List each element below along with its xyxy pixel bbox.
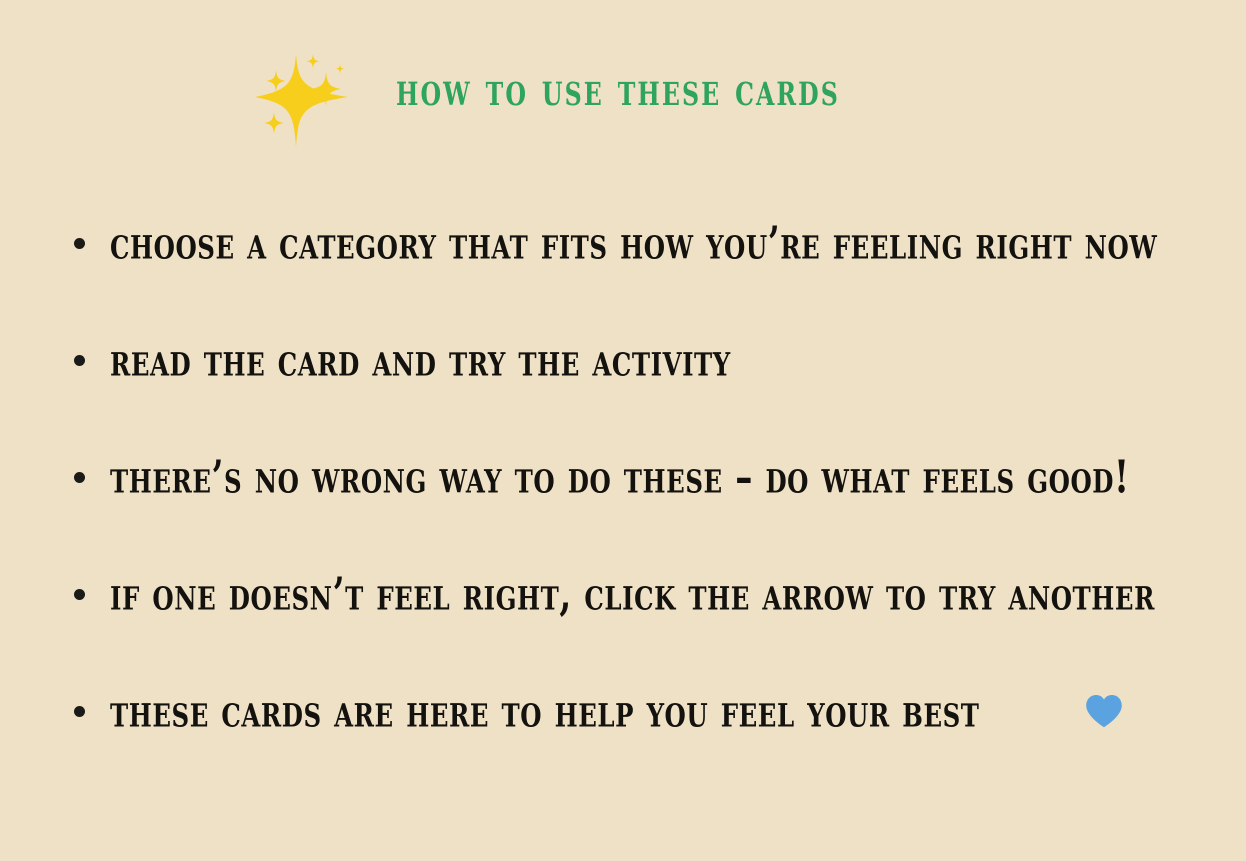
bullet-dot-icon — [74, 238, 85, 249]
list-item-label: Choose a category that fits how you’re f… — [110, 220, 1157, 265]
instructions-list: Choose a category that fits how you’re f… — [0, 184, 1246, 769]
bullet-dot-icon — [74, 472, 85, 483]
list-item-label: If one doesn’t feel right, click the arr… — [110, 571, 1155, 616]
list-item: Read the card and try the activity — [0, 301, 1246, 418]
list-item-label: Read the card and try the activity — [110, 337, 731, 382]
how-to-use-cards-page: How to Use These Cards Choose a category… — [0, 0, 1246, 861]
list-item-label: These cards are here to help you feel yo… — [110, 688, 980, 733]
blue-heart-icon — [1085, 694, 1123, 728]
list-item: There’s no wrong way to do these – do wh… — [0, 418, 1246, 535]
bullet-dot-icon — [74, 589, 85, 600]
list-item-label: There’s no wrong way to do these – do wh… — [110, 454, 1130, 499]
list-item: Choose a category that fits how you’re f… — [0, 184, 1246, 301]
sparkle-icon — [252, 48, 356, 152]
page-header: How to Use These Cards — [0, 46, 1246, 158]
bullet-dot-icon — [74, 355, 85, 366]
page-title: How to Use These Cards — [396, 68, 885, 113]
list-item: If one doesn’t feel right, click the arr… — [0, 535, 1246, 652]
bullet-dot-icon — [74, 706, 85, 717]
list-item: These cards are here to help you feel yo… — [0, 652, 1246, 769]
